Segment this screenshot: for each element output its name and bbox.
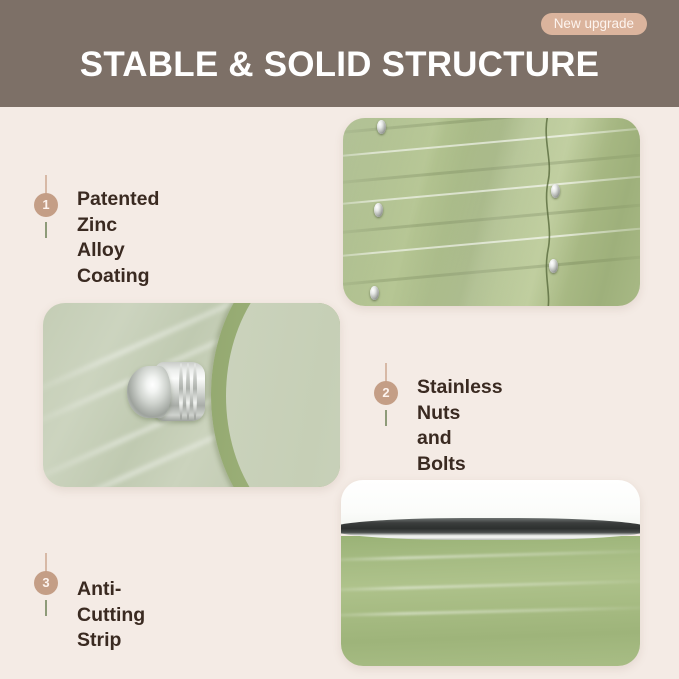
image-panel-zinc-alloy-coating [343,118,640,306]
marker-line-bottom [45,600,47,616]
green-panel-body [341,536,640,666]
screw-icon [377,120,386,134]
page-title: STABLE & SOLID STRUCTURE [0,44,679,86]
screw-icon [370,286,379,300]
new-upgrade-badge: New upgrade [541,13,647,35]
black-rubber-strip [341,518,640,540]
screw-icon [551,184,560,198]
marker-line-bottom [385,410,387,426]
nut-flange-ring [186,363,190,420]
nut-flange-ring [193,363,197,420]
feature-label: Stainless Nuts and Bolts [417,375,503,477]
marker-number-badge: 1 [34,193,58,217]
image-panel-anti-cutting-strip [341,480,640,666]
nut-dome-cap [127,366,171,418]
dome-nut [127,361,209,423]
marker-number-badge: 2 [374,381,398,405]
screw-icon [374,203,383,217]
feature-label: Patented Zinc Alloy Coating [77,187,159,289]
screw-icon [549,259,558,273]
marker-line-bottom [45,222,47,238]
metal-sheen-highlight [343,118,640,306]
nut-flange-ring [179,363,183,420]
marker-number-badge: 3 [34,571,58,595]
curved-panel-edge-inner [226,303,340,487]
panel-seam-line [539,118,555,306]
image-panel-stainless-nut [43,303,340,487]
feature-label: Anti-Cutting Strip [77,577,145,654]
header-bar: New upgrade STABLE & SOLID STRUCTURE [0,0,679,107]
